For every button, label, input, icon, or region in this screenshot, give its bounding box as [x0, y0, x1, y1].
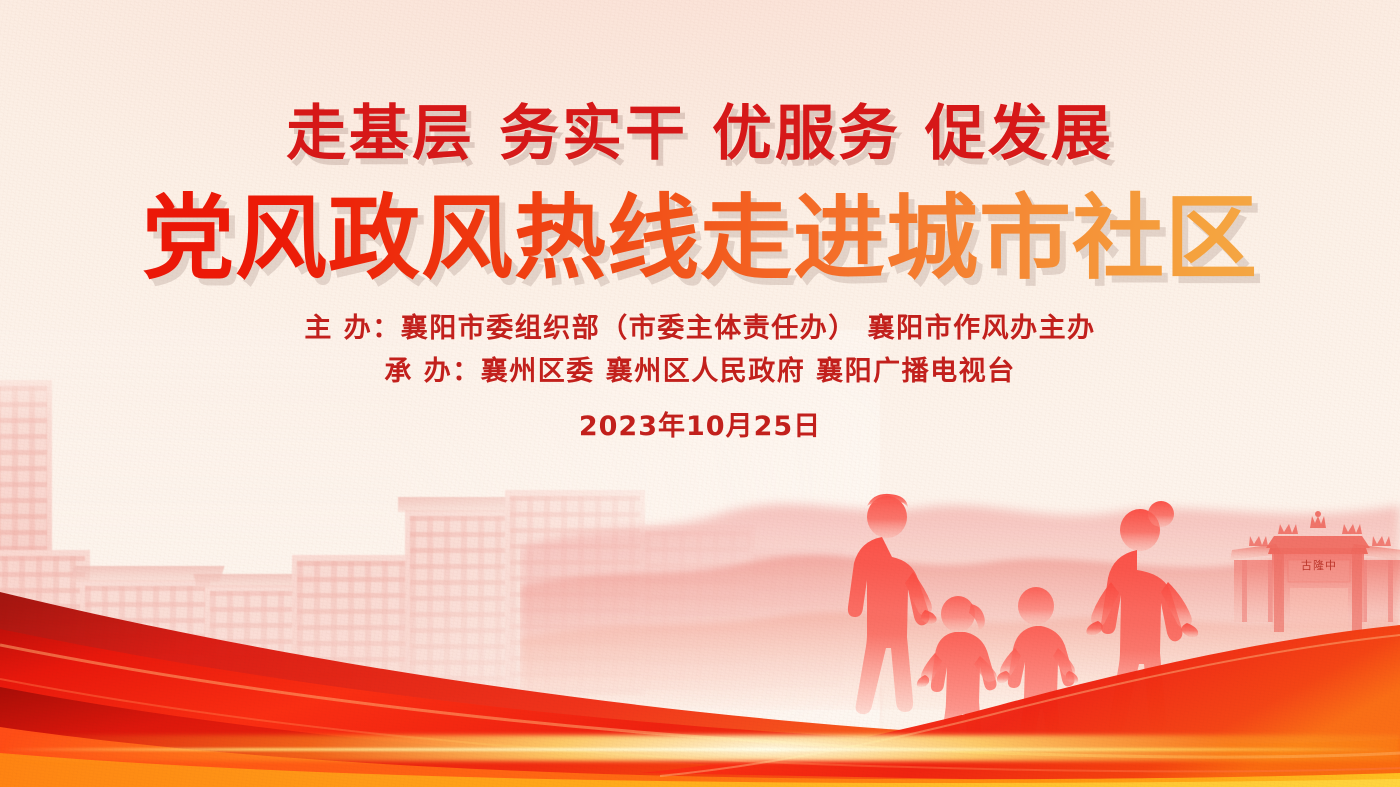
headline-slogan: 走基层 务实干 优服务 促发展: [0, 104, 1400, 164]
poster-text-block: 走基层 务实干 优服务 促发展 党风政风热线走进城市社区 主 办：襄阳市委组织部…: [0, 0, 1400, 520]
poster-canvas: 古隆中: [0, 0, 1400, 787]
organizer-line: 主 办：襄阳市委组织部（市委主体责任办） 襄阳市作风办主办: [0, 307, 1400, 351]
co-organizer-line: 承 办：襄州区委 襄州区人民政府 襄阳广播电视台: [0, 350, 1400, 394]
event-date: 2023年10月25日: [0, 404, 1400, 443]
page-title: 党风政风热线走进城市社区: [0, 190, 1400, 287]
golden-highlight-line: [0, 748, 1400, 751]
